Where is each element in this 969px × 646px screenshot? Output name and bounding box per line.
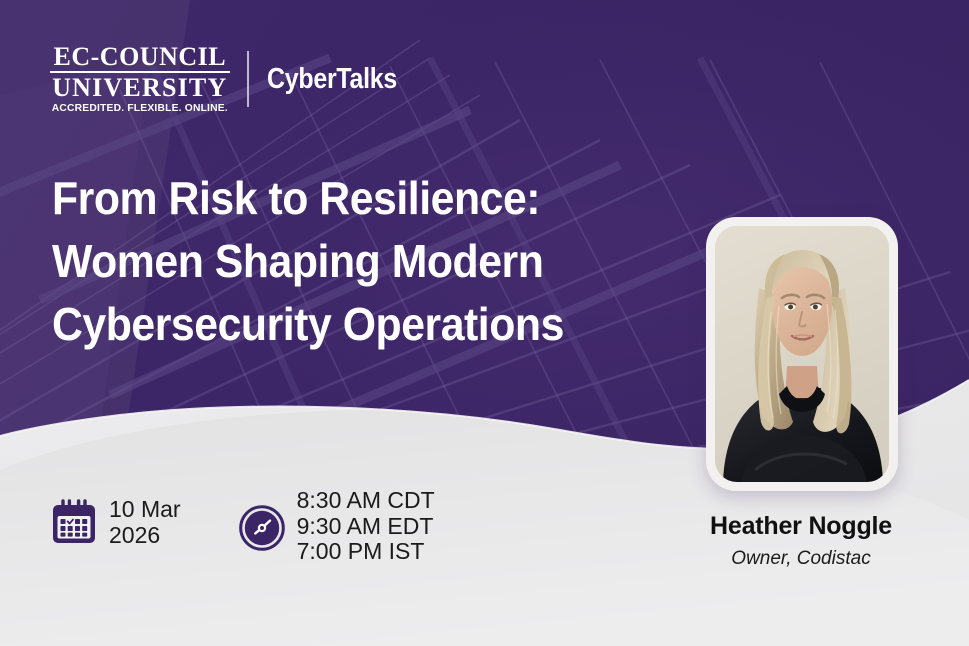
time-list: 8:30 AM CDT 9:30 AM EDT 7:00 PM IST [297,488,435,565]
brand-logo: EC-COUNCIL UNIVERSITY ACCREDITED. FLEXIB… [50,43,418,115]
logo-tagline: ACCREDITED. FLEXIBLE. ONLINE. [52,101,228,115]
title-line-3: Cybersecurity Operations [52,293,666,356]
speaker-photo-frame [706,217,898,491]
logo-divider [247,51,249,107]
title-line-1: From Risk to Resilience: [52,167,666,230]
webinar-poster: EC-COUNCIL UNIVERSITY ACCREDITED. FLEXIB… [0,0,969,646]
speaker-name: Heather Noggle [640,512,962,541]
page-title: From Risk to Resilience: Women Shaping M… [52,167,666,356]
ec-council-university-logo: EC-COUNCIL UNIVERSITY ACCREDITED. FLEXIB… [50,43,247,115]
date-line-2: 2026 [109,523,181,549]
event-date: 10 Mar 2026 [50,488,181,551]
event-meta: 10 Mar 2026 8:30 AM CDT 9:30 AM EDT 7:00… [50,488,435,565]
clock-icon [239,505,285,556]
event-times: 8:30 AM CDT 9:30 AM EDT 7:00 PM IST [181,488,435,565]
time-line-2: 9:30 AM EDT [297,514,435,540]
title-line-2: Women Shaping Modern [52,230,666,293]
calendar-icon [50,498,98,551]
date-line-1: 10 Mar [109,497,181,523]
date-text: 10 Mar 2026 [109,488,181,548]
time-line-3: 7:00 PM IST [297,539,435,565]
cybertalks-wordmark: CyberTalks [267,64,397,94]
logo-university: UNIVERSITY [50,74,230,101]
speaker-photo [715,226,889,482]
speaker-role: Owner, Codistac [640,548,962,570]
logo-ec-council: EC-COUNCIL [50,43,230,70]
time-line-1: 8:30 AM CDT [297,488,435,514]
